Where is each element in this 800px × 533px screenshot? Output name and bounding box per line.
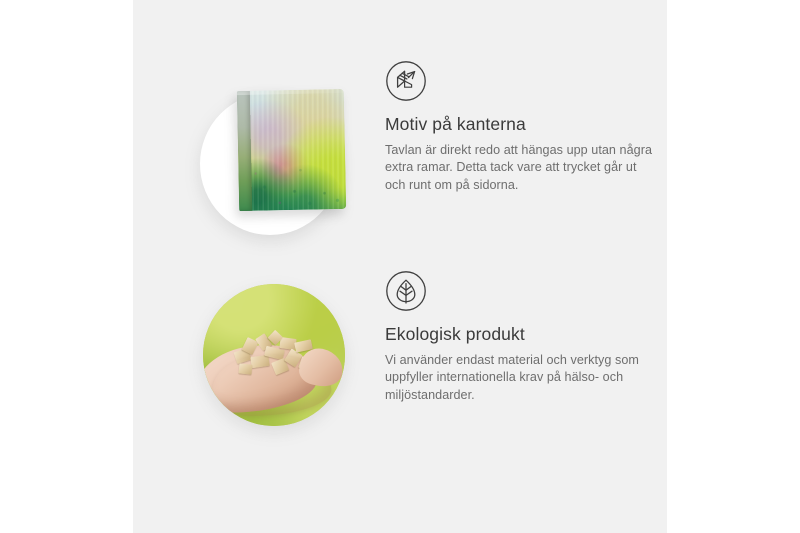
canvas-wrapped-side-edge [237,91,253,211]
content-panel: Motiv på kanterna Tavlan är direkt redo … [133,0,667,533]
canvas-wrapped-edges-icon [385,60,427,102]
product-feature-banner: Motiv på kanterna Tavlan är direkt redo … [0,0,800,533]
feature-eco-product: Ekologisk produkt Vi använder endast mat… [133,270,667,450]
wood-chips-hands-photo [193,270,353,445]
canvas-print-photo [193,60,353,235]
photo-circle-mask [203,284,345,426]
feature-motif-edges: Motiv på kanterna Tavlan är direkt redo … [133,60,667,260]
feature-text-eco-product: Ekologisk produkt Vi använder endast mat… [385,270,655,404]
feature-title: Motiv på kanterna [385,114,655,135]
feature-title: Ekologisk produkt [385,324,655,345]
feature-text-motif-edges: Motiv på kanterna Tavlan är direkt redo … [385,60,655,194]
canvas-paint-speckle [238,146,346,211]
leaf-icon [385,270,427,312]
feature-description: Tavlan är direkt redo att hängas upp uta… [385,142,655,194]
feature-description: Vi använder endast material och verktyg … [385,352,655,404]
canvas-print-object [237,89,346,211]
